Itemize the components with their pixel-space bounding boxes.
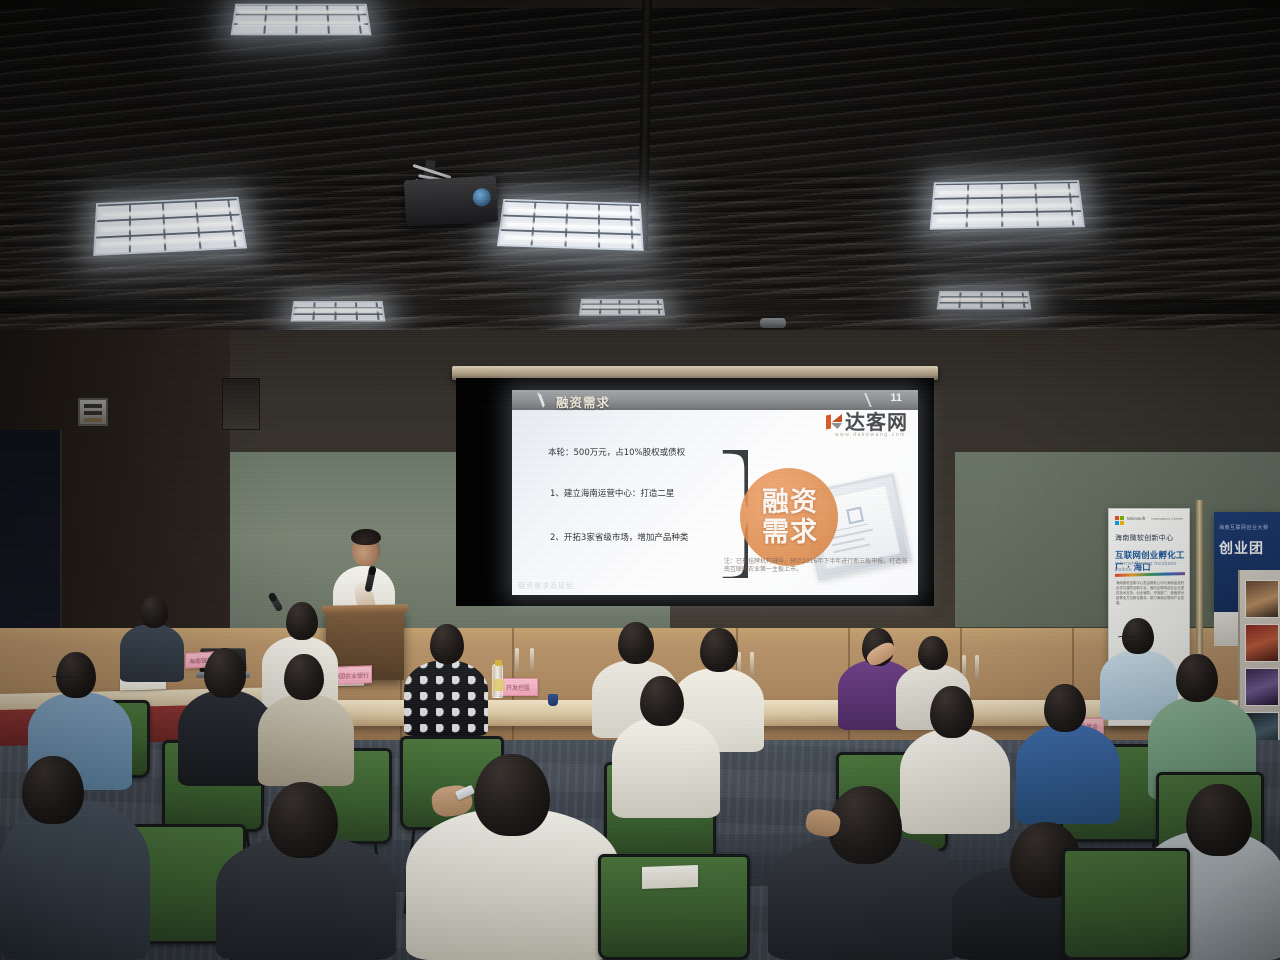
poster-rainbow-divider <box>1115 572 1185 576</box>
ceiling-light-panel-far-center <box>579 299 665 316</box>
attendee-head <box>204 648 246 698</box>
ceiling-light-panel-far-left <box>291 301 386 322</box>
brand-logo-mark-icon <box>825 414 843 430</box>
presenter-hair <box>351 529 381 545</box>
attendee-head <box>22 756 84 824</box>
slide-bullet-2: 2、开拓3家省级市场，增加产品种类 <box>550 531 688 543</box>
attendee-torso <box>0 800 150 960</box>
ceiling <box>0 0 1280 345</box>
circle-label: 融资 需求 <box>748 476 832 560</box>
attendee-head <box>284 654 324 700</box>
water-bottle <box>492 664 503 698</box>
poster-brand-right: Innovation Center <box>1151 516 1183 521</box>
brand-logo-text: 达客网 <box>845 412 908 432</box>
slide-page-number: 11 <box>890 392 902 404</box>
poster-body-text: 海南微软创新中心是由微软公司与海南省政府合作共建的创新平台，面向互联网创业企业提… <box>1116 581 1184 606</box>
ceiling-light-panel-far-right <box>937 291 1032 309</box>
name-card: 开发控股 <box>498 678 538 696</box>
name-card-label: 开发控股 <box>506 683 530 692</box>
poster-heading: 海南微软创新中心 <box>1115 533 1173 543</box>
attendee-head <box>918 636 948 670</box>
blue-poster-title: 创业团 <box>1219 538 1264 558</box>
doorway <box>0 430 62 630</box>
attendee-head <box>930 686 974 738</box>
blue-cup <box>548 694 558 706</box>
name-card-label: 中国农业银行 <box>333 670 369 680</box>
attendee-head <box>1176 654 1218 702</box>
attendee-head <box>140 596 168 628</box>
attendee-head <box>56 652 96 698</box>
handout-paper <box>642 865 698 889</box>
attendee-torso <box>120 624 184 682</box>
brand-logo-url: www.dakewang.com <box>835 432 906 438</box>
eyeglasses-icon <box>52 676 78 681</box>
poster-subheading-en: Internet Startup Incubator · Haikou <box>1115 561 1189 573</box>
presentation-slide: 融资需求 11 达客网 www.dakewang.com 本轮：500万元，占1… <box>512 390 918 595</box>
slide-title: 融资需求 <box>556 392 610 411</box>
wall-control-panel[interactable] <box>78 398 108 426</box>
blue-poster-heading: 海南互联网创业大赛 <box>1219 524 1269 531</box>
attendee-head <box>700 628 738 672</box>
ceiling-projector <box>404 176 498 227</box>
attendee-head <box>1044 684 1086 732</box>
wall-speaker <box>222 378 260 430</box>
circle-label-line-1: 需求 <box>762 518 818 548</box>
slide-bullet-1: 1、建立海南运营中心：打造二星 <box>550 487 674 499</box>
microsoft-logo-icon <box>1115 516 1124 525</box>
attendee-head <box>286 602 318 640</box>
ceiling-beam <box>0 0 1280 8</box>
circle-label-line-0: 融资 <box>762 488 818 518</box>
attendee-torso <box>258 694 354 786</box>
ceiling-light-panel-right <box>930 180 1085 230</box>
slide-watermark: 融资需求及规划 <box>518 581 574 591</box>
ceiling-light-panel-top-left <box>231 4 372 36</box>
slide-footnote: 注：已有挂牌机构辅导，预计2016年下半年进行新三板申报，打造海南互联网农业第一… <box>724 558 910 574</box>
attendee-head <box>430 624 464 664</box>
ceiling-light-panel-center <box>497 199 644 251</box>
attendee-head <box>618 622 654 664</box>
eyeglasses-icon <box>1118 636 1140 641</box>
chair[interactable] <box>1062 848 1190 960</box>
attendee-head <box>1186 784 1252 856</box>
attendee-head <box>268 782 338 858</box>
projector-lens <box>472 188 491 207</box>
attendee-head <box>640 676 684 726</box>
attendee-torso <box>900 728 1010 834</box>
presentation-room-photo: 融资需求 11 达客网 www.dakewang.com 本轮：500万元，占1… <box>0 0 1280 960</box>
poster-brand: Microsoft <box>1127 516 1145 521</box>
attendee-torso <box>404 660 488 736</box>
brand-logo: 达客网 <box>825 412 908 432</box>
attendee-torso <box>1016 724 1120 824</box>
ceiling-light-panel-left <box>93 197 247 256</box>
slide-bullet-0: 本轮：500万元，占10%股权或债权 <box>548 446 685 458</box>
smoke-detector-icon-2 <box>760 318 786 328</box>
attendee-head <box>474 754 550 836</box>
attendee-torso <box>612 716 720 818</box>
